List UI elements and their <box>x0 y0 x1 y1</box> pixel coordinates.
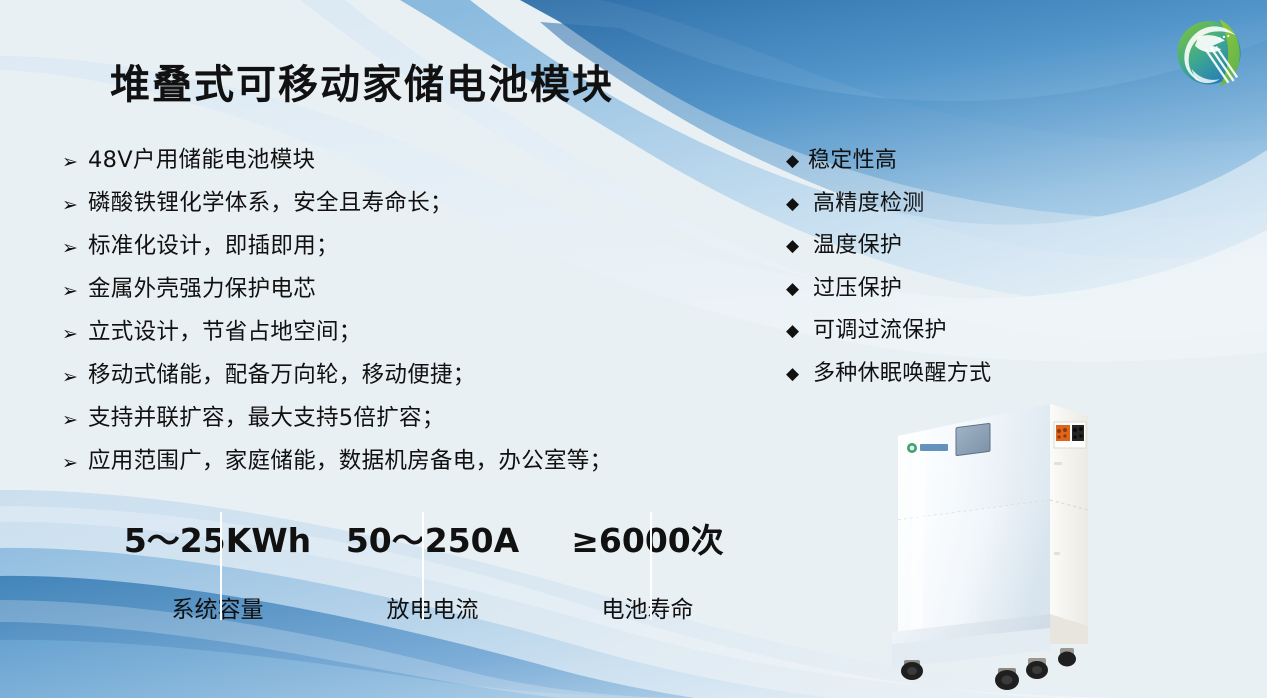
slide-canvas: 堆叠式可移动家储电池模块 ➢ 48V户用储能电池模块 ➢ 磷酸铁锂化学体系，安全… <box>0 0 1267 698</box>
list-item-label: 过压保护 <box>813 276 1086 301</box>
list-item: ➢ 标准化设计，即插即用； <box>62 234 702 277</box>
list-item: ➢ 金属外壳强力保护电芯 <box>62 277 702 320</box>
diamond-bullet-icon: ◆ <box>786 318 813 340</box>
list-item: ◆ 温度保护 <box>786 233 1086 276</box>
features-left-list: ➢ 48V户用储能电池模块 ➢ 磷酸铁锂化学体系，安全且寿命长； ➢ 标准化设计… <box>62 148 702 492</box>
list-item: ➢ 支持并联扩容，最大支持5倍扩容； <box>62 406 702 449</box>
list-item-label: 稳定性高 <box>808 148 1086 173</box>
list-item: ➢ 磷酸铁锂化学体系，安全且寿命长； <box>62 191 702 234</box>
features-right-list: ◆ 稳定性高 ◆ 高精度检测 ◆ 温度保护 ◆ 过压保护 ◆ 可调过流保护 ◆ … <box>786 148 1086 403</box>
arrow-bullet-icon: ➢ <box>62 191 88 215</box>
list-item: ◆ 可调过流保护 <box>786 318 1086 361</box>
product-lcd-display <box>956 423 990 455</box>
specs-summary-row: 5〜25KWh 系统容量 50〜250A 放电电流 ≥6000次 电池寿命 <box>110 512 755 620</box>
diamond-bullet-icon: ◆ <box>786 191 813 213</box>
arrow-bullet-icon: ➢ <box>62 234 88 258</box>
slide-title: 堆叠式可移动家储电池模块 <box>110 52 614 110</box>
list-item-label: 可调过流保护 <box>813 318 1086 343</box>
stat-cycle-life: ≥6000次 电池寿命 <box>540 512 755 620</box>
list-item: ➢ 立式设计，节省占地空间； <box>62 320 702 363</box>
stat-value: 5〜25KWh <box>124 514 311 562</box>
arrow-bullet-icon: ➢ <box>62 363 88 387</box>
list-item-label: 多种休眠唤醒方式 <box>813 361 1086 386</box>
arrow-bullet-icon: ➢ <box>62 320 88 344</box>
company-logo-icon <box>1165 7 1253 95</box>
list-item-label: 移动式储能，配备万向轮，移动便捷； <box>88 363 702 389</box>
list-item: ◆ 高精度检测 <box>786 191 1086 234</box>
stat-capacity: 5〜25KWh 系统容量 <box>110 512 325 620</box>
arrow-bullet-icon: ➢ <box>62 406 88 430</box>
stats-divider <box>422 512 424 620</box>
list-item-label: 高精度检测 <box>813 191 1086 216</box>
product-photo-battery-cabinet <box>878 392 1130 692</box>
list-item: ➢ 应用范围广，家庭储能，数据机房备电，办公室等； <box>62 449 702 492</box>
stats-divider <box>650 512 652 620</box>
list-item-label: 应用范围广，家庭储能，数据机房备电，办公室等； <box>88 449 702 475</box>
arrow-bullet-icon: ➢ <box>62 148 88 172</box>
diamond-bullet-icon: ◆ <box>786 233 813 255</box>
list-item-label: 48V户用储能电池模块 <box>88 148 702 174</box>
stat-value: 50〜250A <box>346 514 519 562</box>
list-item-label: 立式设计，节省占地空间； <box>88 320 702 346</box>
list-item: ➢ 移动式储能，配备万向轮，移动便捷； <box>62 363 702 406</box>
stats-divider <box>220 512 222 620</box>
list-item-label: 温度保护 <box>813 233 1086 258</box>
list-item: ◆ 过压保护 <box>786 276 1086 319</box>
stat-label: 放电电流 <box>387 590 479 624</box>
arrow-bullet-icon: ➢ <box>62 277 88 301</box>
diamond-bullet-icon: ◆ <box>786 276 813 298</box>
list-item-label: 磷酸铁锂化学体系，安全且寿命长； <box>88 191 702 217</box>
list-item: ◆ 稳定性高 <box>786 148 1086 191</box>
stat-value: ≥6000次 <box>571 514 724 562</box>
diamond-bullet-icon: ◆ <box>786 148 808 170</box>
list-item: ◆ 多种休眠唤醒方式 <box>786 361 1086 404</box>
stat-discharge-current: 50〜250A 放电电流 <box>325 512 540 620</box>
arrow-bullet-icon: ➢ <box>62 449 88 473</box>
list-item-label: 支持并联扩容，最大支持5倍扩容； <box>88 406 702 432</box>
diamond-bullet-icon: ◆ <box>786 361 813 383</box>
list-item-label: 标准化设计，即插即用； <box>88 234 702 260</box>
stat-label: 电池寿命 <box>602 590 694 624</box>
stat-label: 系统容量 <box>172 590 264 624</box>
list-item-label: 金属外壳强力保护电芯 <box>88 277 702 303</box>
list-item: ➢ 48V户用储能电池模块 <box>62 148 702 191</box>
